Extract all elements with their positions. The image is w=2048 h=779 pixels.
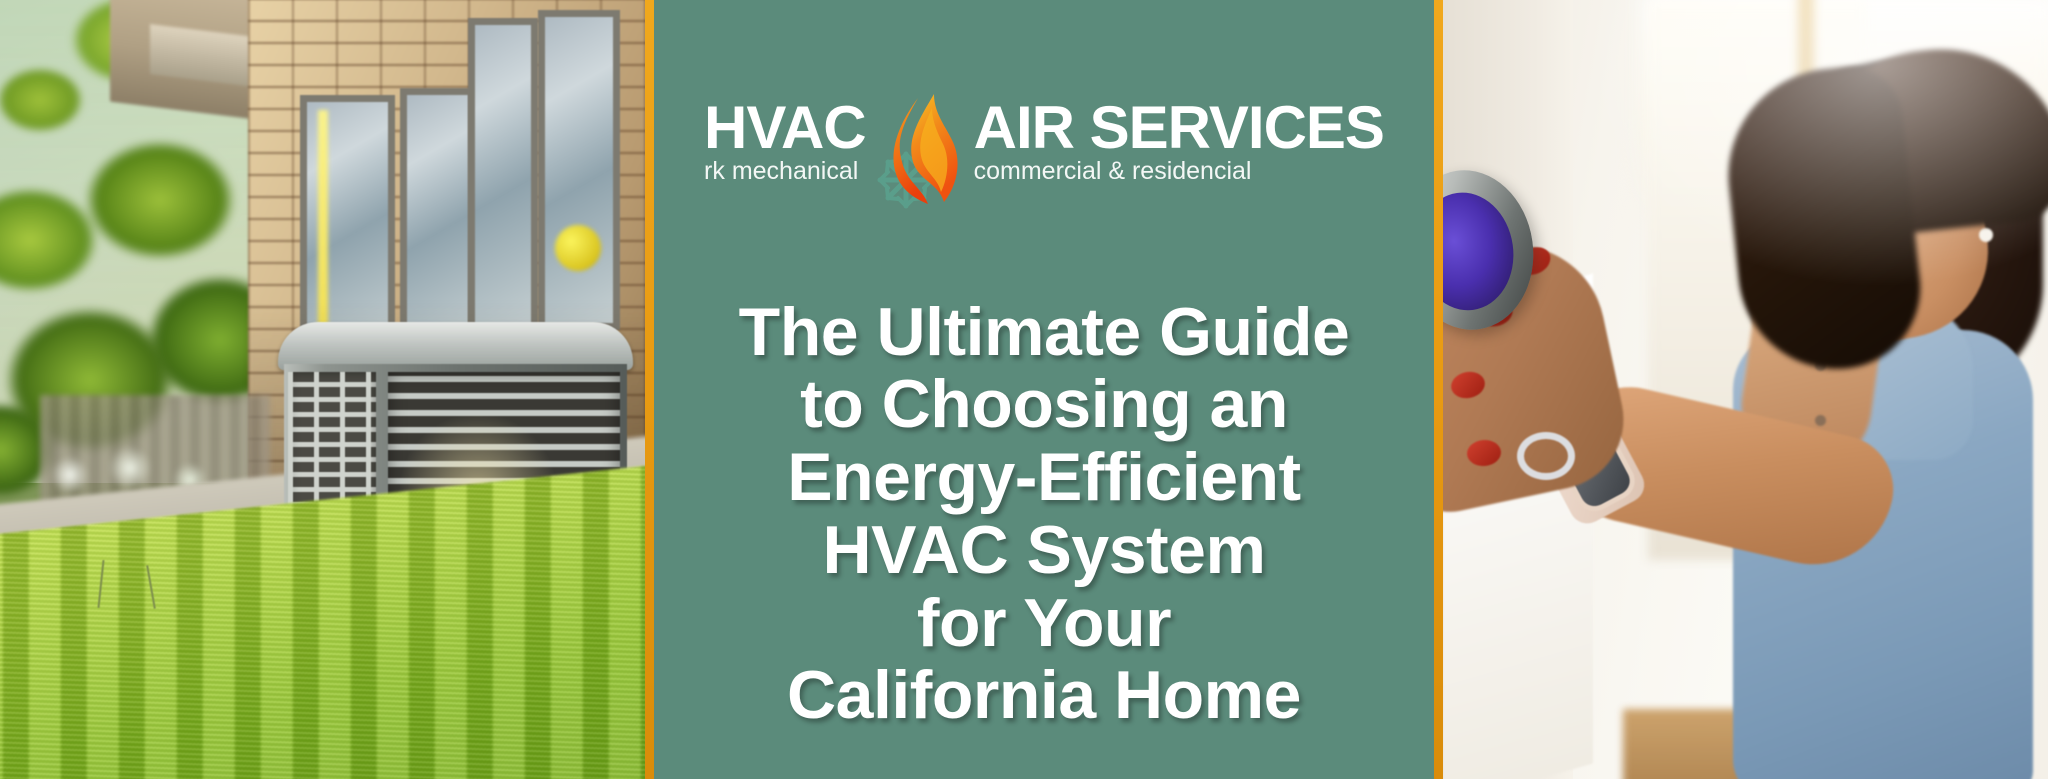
- headline-line-3: Energy-Efficient: [739, 441, 1350, 514]
- logo-hvac-tagline: rk mechanical: [704, 158, 866, 184]
- flame-snowflake-icon: [872, 92, 968, 210]
- headline-line-5: for Your: [739, 587, 1350, 660]
- woman-smart-thermostat-photo: [1443, 0, 2048, 779]
- green-content-panel: HVAC rk mechanical: [654, 0, 1434, 779]
- gold-divider-right: [1434, 0, 1443, 779]
- yellow-plant: [555, 225, 601, 271]
- logo-air-services-word: AIR SERVICES: [974, 100, 1384, 156]
- logo-left-block: HVAC rk mechanical: [704, 92, 866, 185]
- company-logo[interactable]: HVAC rk mechanical: [704, 92, 1384, 210]
- hvac-guide-banner: HVAC rk mechanical: [0, 0, 2048, 779]
- logo-air-services-tagline: commercial & residencial: [974, 158, 1384, 184]
- outdoor-hvac-condenser-photo: [0, 0, 645, 779]
- condenser-top-cover: [278, 322, 633, 370]
- headline-line-2: to Choosing an: [739, 368, 1350, 441]
- thermostat-display: [1443, 186, 1521, 316]
- logo-hvac-word: HVAC: [704, 100, 866, 156]
- house-window: [468, 18, 538, 338]
- logo-right-block: AIR SERVICES commercial & residencial: [974, 92, 1384, 185]
- dress-button: [1815, 415, 1826, 426]
- earring: [1979, 228, 1993, 242]
- headline-line-1: The Ultimate Guide: [739, 296, 1350, 369]
- headline-line-6: California Home: [739, 659, 1350, 732]
- gold-divider-left: [645, 0, 654, 779]
- house-window: [538, 10, 620, 330]
- headline-line-4: HVAC System: [739, 514, 1350, 587]
- page-title: The Ultimate Guide to Choosing an Energy…: [715, 296, 1374, 733]
- finger-ring: [1517, 432, 1575, 480]
